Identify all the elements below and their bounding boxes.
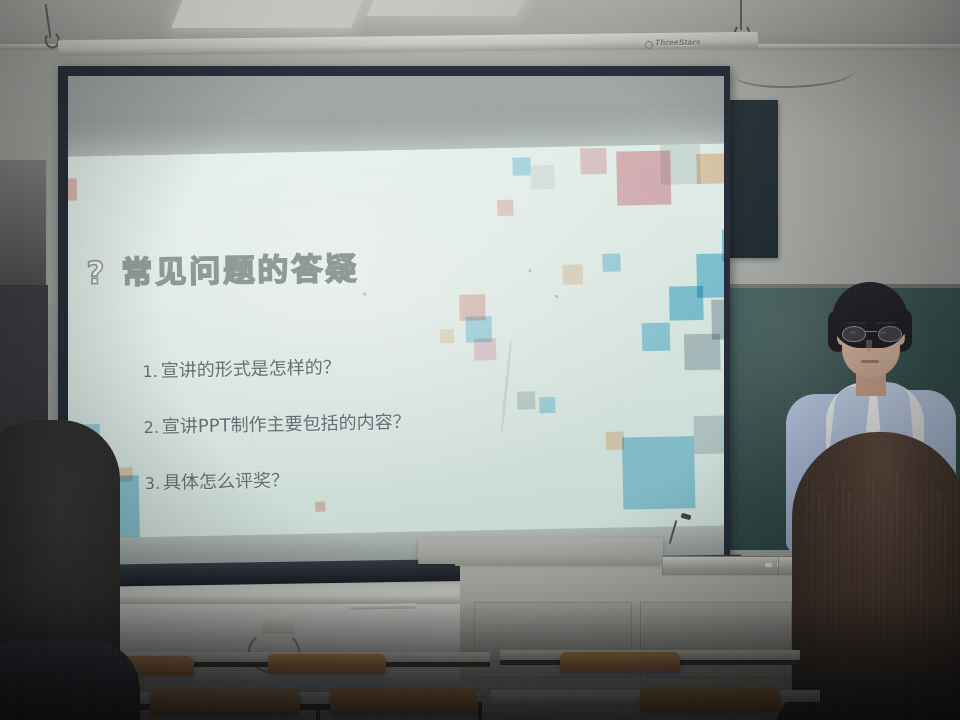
hair-strand bbox=[818, 492, 820, 656]
projection-screen-surface: ? 常见问题的答疑 1.宣讲的形式是怎样的？ 2.宣讲PPT制作主要包括的内容？… bbox=[68, 76, 724, 570]
hair-strand bbox=[932, 482, 934, 602]
slide-bullet-1-number: 1. bbox=[142, 362, 158, 381]
hair-strand bbox=[956, 472, 958, 680]
slide-bullet-3-number: 3. bbox=[145, 474, 161, 493]
rack-indicator-icon bbox=[765, 563, 772, 567]
hair-strand bbox=[872, 482, 874, 690]
mosaic-square bbox=[497, 200, 513, 216]
slide-mosaic-decoration bbox=[68, 143, 724, 156]
mosaic-square bbox=[563, 264, 583, 284]
classroom-photo: ThreeStars ? 常见问题的答疑 1.宣讲的形式是怎样的？ 2.宣讲PP… bbox=[0, 0, 960, 720]
hair-strand bbox=[848, 492, 850, 612]
hair-strand bbox=[812, 482, 814, 624]
screen-speck bbox=[529, 269, 532, 272]
chair-back bbox=[330, 688, 478, 714]
mosaic-square bbox=[531, 165, 555, 189]
mosaic-square bbox=[660, 144, 701, 185]
mosaic-square bbox=[580, 148, 607, 175]
desk-leg bbox=[316, 704, 320, 720]
foreground-student bbox=[792, 432, 960, 720]
slide-bullet-2-text: 宣讲PPT制作主要包括的内容？ bbox=[162, 412, 411, 438]
presenter-mouth bbox=[861, 360, 879, 363]
presenter-brow-left bbox=[846, 322, 866, 324]
hair-strand bbox=[896, 472, 898, 614]
ceiling-light-fixture-secondary bbox=[367, 0, 528, 16]
slide-bullet-1: 1.宣讲的形式是怎样的？ bbox=[142, 348, 612, 383]
hair-strand bbox=[902, 482, 904, 646]
projection-screen: ? 常见问题的答疑 1.宣讲的形式是怎样的？ 2.宣讲PPT制作主要包括的内容？… bbox=[58, 66, 730, 576]
presenter-brow-right bbox=[876, 322, 896, 324]
mosaic-square bbox=[512, 157, 530, 175]
foreground-student-hair bbox=[792, 432, 960, 720]
mosaic-square bbox=[602, 254, 620, 272]
slide-bullet-1-text: 宣讲的形式是怎样的？ bbox=[161, 357, 341, 382]
mosaic-square bbox=[440, 329, 454, 343]
slide-body: 1.宣讲的形式是怎样的？ 2.宣讲PPT制作主要包括的内容？ 3.具体怎么评奖？ bbox=[142, 348, 615, 525]
glasses-bridge bbox=[865, 331, 877, 332]
chair-back bbox=[560, 652, 680, 672]
hair-strand bbox=[944, 502, 946, 666]
hair-strand bbox=[836, 472, 838, 702]
ceiling-light-fixture bbox=[171, 0, 365, 28]
ceiling-hook-right-icon bbox=[740, 0, 742, 30]
glasses-lens-left bbox=[842, 326, 866, 342]
slide-bullet-2: 2.宣讲PPT制作主要包括的内容？ bbox=[143, 404, 613, 439]
mosaic-square bbox=[669, 286, 704, 321]
mosaic-square bbox=[622, 436, 695, 509]
chair-back bbox=[640, 686, 780, 712]
slide-bullet-2-number: 2. bbox=[143, 418, 159, 437]
chair-back bbox=[268, 654, 386, 674]
hair-strand bbox=[806, 472, 808, 592]
mosaic-square bbox=[696, 153, 724, 184]
mosaic-square bbox=[684, 334, 721, 371]
hair-strand bbox=[854, 502, 856, 644]
presentation-slide: ? 常见问题的答疑 1.宣讲的形式是怎样的？ 2.宣讲PPT制作主要包括的内容？… bbox=[68, 143, 724, 538]
chair-back bbox=[150, 690, 300, 716]
star-logo-icon bbox=[645, 41, 653, 49]
hair-strand bbox=[950, 512, 952, 698]
mosaic-square bbox=[642, 323, 671, 352]
wall-speaker-panel bbox=[730, 100, 778, 258]
counter-edge bbox=[120, 596, 500, 604]
mosaic-square bbox=[694, 415, 724, 454]
screen-speck bbox=[363, 293, 366, 296]
mosaic-square bbox=[118, 467, 132, 481]
slide-bullet-3: 3.具体怎么评奖？ bbox=[145, 460, 615, 495]
glasses-lens-right bbox=[878, 326, 902, 342]
foreground-left-shoulder bbox=[0, 640, 140, 720]
slide-bullet-3-text: 具体怎么评奖？ bbox=[163, 470, 289, 494]
glasses-icon bbox=[842, 326, 900, 340]
desk-leg bbox=[478, 702, 482, 720]
hair-strand bbox=[860, 512, 862, 676]
podium-top bbox=[418, 538, 663, 564]
mosaic-square bbox=[68, 178, 77, 200]
screen-brand-label: ThreeStars bbox=[655, 38, 701, 48]
slide-title: ? 常见问题的答疑 bbox=[86, 243, 359, 293]
presenter-nose bbox=[866, 340, 872, 352]
screen-speck bbox=[555, 295, 558, 298]
hair-strand bbox=[890, 512, 892, 632]
hair-strand bbox=[866, 472, 868, 658]
hair-strand bbox=[908, 492, 910, 678]
hair-strand bbox=[938, 492, 940, 634]
hair-strand bbox=[824, 502, 826, 688]
screen-pull-handle[interactable] bbox=[350, 603, 416, 609]
